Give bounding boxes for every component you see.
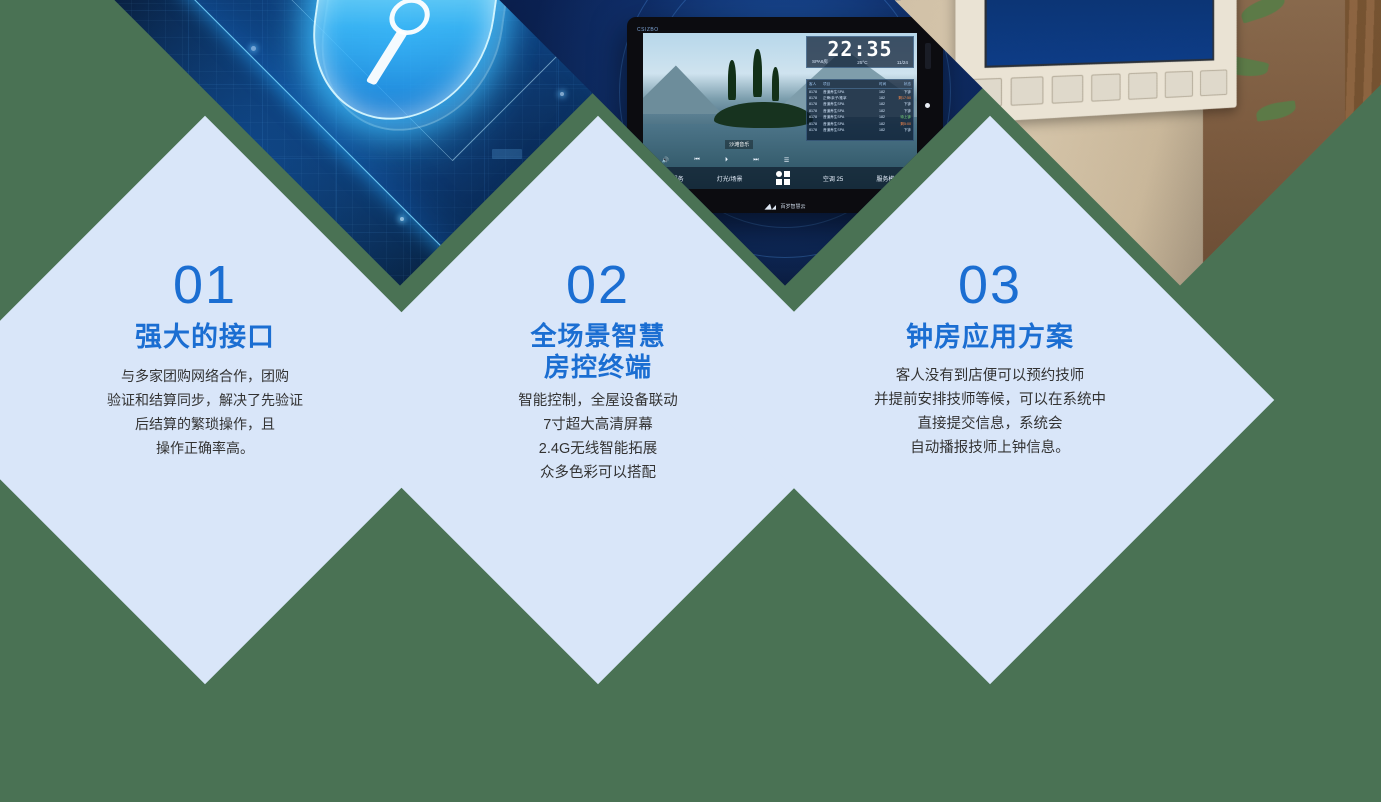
tablet-clock-widget: 22:35 SPA6房 25°C 11/24 xyxy=(806,36,914,68)
card-desc-line: 操作正确率高。 xyxy=(107,436,303,460)
card-title-line: 全场景智慧 xyxy=(530,321,665,352)
panel-button-1[interactable] xyxy=(1010,76,1043,106)
tablet-footer-brand: 百岁智慧云 xyxy=(780,203,805,210)
col-header-status: 状态 xyxy=(893,81,911,87)
apps-grid-icon[interactable] xyxy=(776,171,790,185)
tablet-side-keys[interactable] xyxy=(925,43,931,69)
wood-slats xyxy=(1345,0,1381,217)
card-title: 钟房应用方案 xyxy=(906,321,1074,354)
card-desc-line: 智能控制，全屋设备联动 xyxy=(518,389,678,413)
panel-button-4[interactable] xyxy=(1128,71,1157,99)
card-description: 智能控制，全屋设备联动 7寸超大高清屏幕 2.4G无线智能拓展 众多色彩可以搭配 xyxy=(518,389,678,485)
dock-item-service-mode[interactable]: 服务模式 xyxy=(876,174,900,183)
card-number: 03 xyxy=(958,257,1022,313)
card-description: 客人没有到店便可以预约技师 并提前安排技师等候，可以在系统中 直接提交信息，系统… xyxy=(874,364,1106,460)
list-header-row: 客人 项目 时间 状态 xyxy=(808,81,912,88)
panel-button-3[interactable] xyxy=(1090,73,1120,102)
card-title-line: 钟房应用方案 xyxy=(906,321,1074,354)
card-title-line: 强大的接口 xyxy=(135,321,275,354)
card-desc-line: 2.4G无线智能拓展 xyxy=(518,437,678,461)
card-desc-line: 后结算的繁琐操作，且 xyxy=(107,412,303,436)
card-title: 强大的接口 xyxy=(135,321,275,354)
lock-key-stem-icon xyxy=(366,29,408,85)
table-row[interactable]: 8178 音道养生SPA 182 下钟 xyxy=(808,127,912,133)
wall-control-panel[interactable]: 客房控制 xyxy=(955,0,1236,123)
media-source-pill[interactable]: 沙滩音乐 xyxy=(725,140,753,149)
tablet-service-list[interactable]: 客人 项目 时间 状态 8178 音道养生SPA 182 下钟 8178 xyxy=(806,79,914,141)
clock-date: 11/24 xyxy=(897,60,908,65)
next-track-icon[interactable]: ⏭ xyxy=(753,157,758,164)
clock-time: 22:35 xyxy=(810,39,910,59)
media-controls[interactable]: 🔊 ⏮ ⏵ ⏭ ☰ xyxy=(649,155,802,165)
panel-button-5[interactable] xyxy=(1164,70,1192,98)
lock-keyhole-icon xyxy=(387,0,432,35)
panel-physical-buttons[interactable] xyxy=(968,62,1226,115)
panel-button-2[interactable] xyxy=(1051,74,1082,103)
card-title-line: 房控终端 xyxy=(530,352,665,383)
cell-guest: 8178 xyxy=(809,127,823,133)
dock-item-lighting-scene[interactable]: 灯光/场景 xyxy=(717,174,743,183)
clock-room-label: SPA6房 xyxy=(812,59,828,65)
tablet-screen[interactable]: 22:35 SPA6房 25°C 11/24 客人 项目 时间 状态 xyxy=(643,33,917,189)
clock-temperature: 25°C xyxy=(857,60,867,65)
col-header-guest: 客人 xyxy=(809,81,823,87)
card-desc-line: 自动播报技师上钟信息。 xyxy=(874,436,1106,460)
col-header-time: 时间 xyxy=(879,81,893,87)
card-desc-line: 验证和结算同步，解决了先验证 xyxy=(107,388,303,412)
col-header-item: 项目 xyxy=(823,81,879,87)
cell-status: 下钟 xyxy=(893,127,911,133)
card-number: 01 xyxy=(173,257,237,313)
card-desc-line: 与多家团购网络合作，团购 xyxy=(107,364,303,388)
volume-icon[interactable]: 🔊 xyxy=(662,157,669,164)
card-title: 全场景智慧 房控终端 xyxy=(530,321,665,383)
tablet-dock[interactable]: 呼叫服务 灯光/场景 空调 25 服务模式 xyxy=(643,167,917,189)
clock-subline: SPA6房 25°C 11/24 xyxy=(810,59,910,65)
card-desc-line: 众多色彩可以搭配 xyxy=(518,461,678,485)
dock-item-air-conditioning[interactable]: 空调 25 xyxy=(823,174,843,183)
card-desc-line: 客人没有到店便可以预约技师 xyxy=(874,364,1106,388)
panel-screen[interactable]: 客房控制 xyxy=(984,0,1214,67)
playlist-icon[interactable]: ☰ xyxy=(784,157,789,164)
card-desc-line: 并提前安排技师等候，可以在系统中 xyxy=(874,388,1106,412)
card-desc-line: 直接提交信息，系统会 xyxy=(874,412,1106,436)
cell-time: 182 xyxy=(879,127,893,133)
infographic-stage: CSIZBO 22:35 xyxy=(0,0,1381,603)
play-pause-icon[interactable]: ⏵ xyxy=(725,157,728,164)
previous-track-icon[interactable]: ⏮ xyxy=(694,157,699,164)
card-number: 02 xyxy=(566,257,630,313)
card-description: 与多家团购网络合作，团购 验证和结算同步，解决了先验证 后结算的繁琐操作，且 操… xyxy=(107,364,303,460)
cell-item: 音道养生SPA xyxy=(823,127,879,133)
tablet-home-button[interactable] xyxy=(925,103,930,108)
card-desc-line: 7寸超大高清屏幕 xyxy=(518,413,678,437)
tablet-device: CSIZBO 22:35 xyxy=(627,17,943,213)
panel-button-6[interactable] xyxy=(1199,69,1226,96)
brand-logo-icon xyxy=(764,204,776,210)
